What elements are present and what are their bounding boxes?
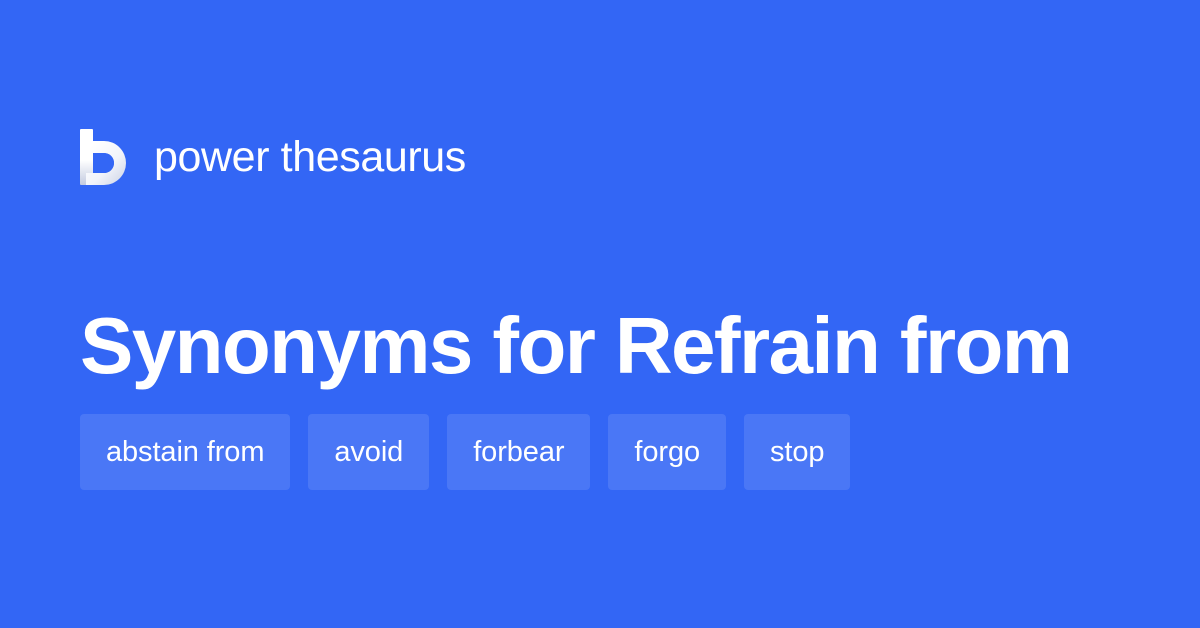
share-card: power thesaurus Synonyms for Refrain fro… [0,0,1200,628]
synonym-chip[interactable]: forbear [447,414,590,490]
brand-header[interactable]: power thesaurus [80,126,466,188]
synonym-chip[interactable]: abstain from [80,414,290,490]
page-title: Synonyms for Refrain from [80,303,1140,389]
synonym-chip-list: abstain from avoid forbear forgo stop [80,414,850,490]
power-thesaurus-logo-icon [80,129,132,185]
synonym-chip[interactable]: avoid [308,414,429,490]
synonym-chip[interactable]: forgo [608,414,726,490]
synonym-chip[interactable]: stop [744,414,850,490]
brand-name: power thesaurus [154,136,466,179]
